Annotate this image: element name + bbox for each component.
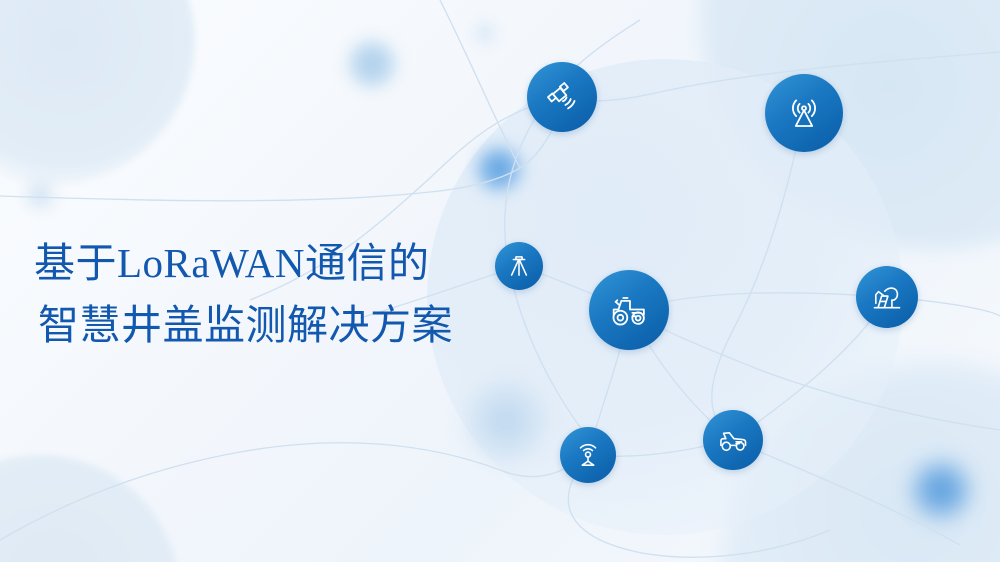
radio-tower-icon <box>783 92 825 134</box>
tractor-icon <box>606 287 652 333</box>
presentation-slide: 基于LoRaWAN通信的 智慧井盖监测解决方案 <box>0 0 1000 562</box>
node-radio-tower[interactable] <box>765 74 843 152</box>
mower-robot-icon <box>716 423 750 457</box>
accent-dot-3 <box>460 375 552 467</box>
accent-dot-6 <box>468 16 502 50</box>
node-satellite-dish[interactable] <box>527 62 597 132</box>
accent-dot-1 <box>344 36 400 92</box>
slide-title: 基于LoRaWAN通信的 智慧井盖监测解决方案 <box>34 232 554 356</box>
background-blob-top-left <box>0 0 195 185</box>
node-survey-tripod[interactable] <box>495 242 543 290</box>
satellite-dish-icon <box>543 78 581 116</box>
node-oil-pumpjack[interactable] <box>856 266 918 328</box>
node-tractor[interactable] <box>589 270 669 350</box>
sensor-beacon-icon <box>573 440 603 470</box>
title-line-2: 智慧井盖监测解决方案 <box>34 294 554 356</box>
accent-dot-4 <box>906 455 976 525</box>
node-mower-robot[interactable] <box>703 410 763 470</box>
accent-dot-5 <box>20 175 60 215</box>
background-blob-bottom-left <box>0 455 180 562</box>
title-line-1: 基于LoRaWAN通信的 <box>34 232 554 294</box>
background-blob-top-right <box>700 0 1000 250</box>
survey-tripod-icon <box>506 253 532 279</box>
oil-pumpjack-icon <box>870 280 904 314</box>
background-blob-bottom-right <box>720 362 1000 562</box>
node-sensor-beacon[interactable] <box>560 427 616 483</box>
accent-dot-2 <box>472 142 526 196</box>
